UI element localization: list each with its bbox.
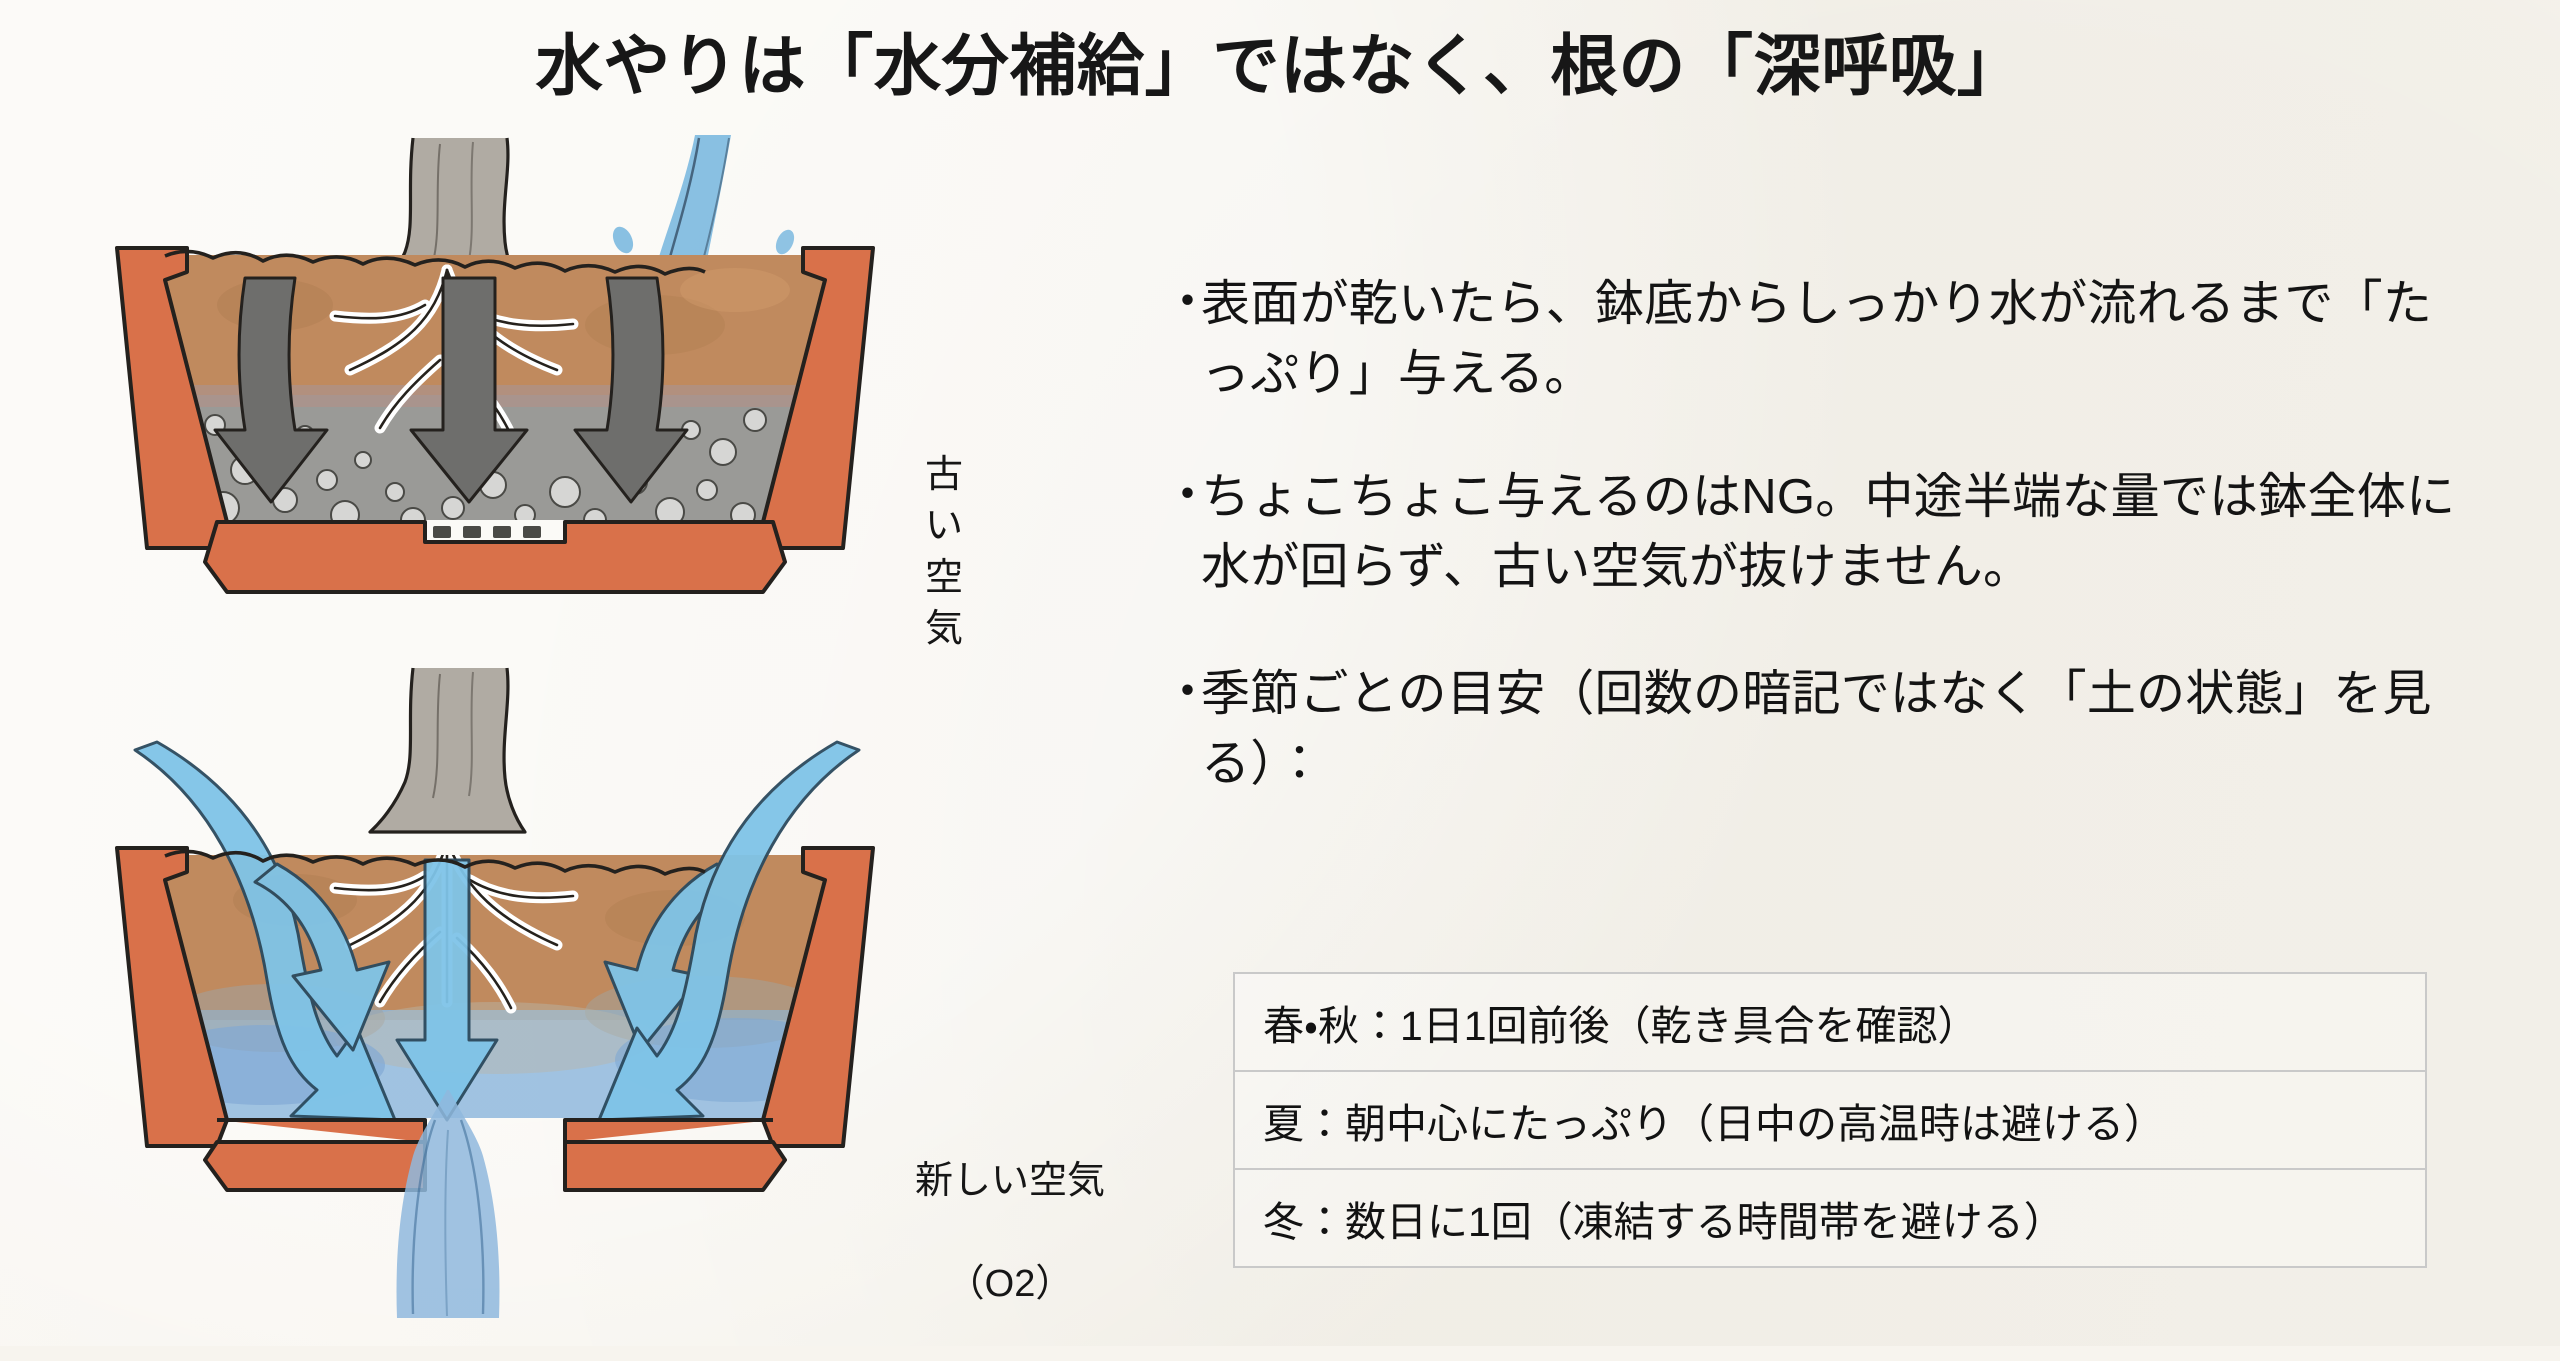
figure-label-new-air: 新しい空気 （O2）	[885, 1105, 1135, 1361]
bullet-marker-2: ・	[1163, 461, 1212, 531]
bullet-text-3: 季節ごとの目安（回数の暗記ではなく「土の状態」を見る）：	[1201, 667, 2432, 791]
bullet-marker-3: ・	[1163, 658, 1212, 728]
bullet-item-2: ・ ちょこちょこ与えるのはNG。中途半端な量では鉢全体に水が回らず、古い空気が抜…	[1163, 463, 2463, 602]
illustration-column: 古い空気	[95, 130, 1105, 1320]
old-air-diagram-svg	[95, 130, 895, 620]
table-row-summer: 夏：朝中心にたっぷり（日中の高温時は避ける）	[1235, 1072, 2425, 1170]
tree-trunk-icon	[370, 668, 525, 832]
figure-old-air: 古い空気	[95, 130, 895, 620]
table-cell-summer: 夏：朝中心にたっぷり（日中の高温時は避ける）	[1263, 1090, 2165, 1150]
bullet-marker-1: ・	[1163, 268, 1212, 338]
bullet-text-1: 表面が乾いたら、鉢底からしっかり水が流れるまで「たっぷり」与える。	[1201, 277, 2432, 401]
bullet-item-3: ・ 季節ごとの目安（回数の暗記ではなく「土の状態」を見る）：	[1163, 660, 2463, 799]
figure-new-air: 新しい空気 （O2）	[95, 650, 895, 1320]
table-cell-winter: 冬：数日に1回（凍結する時間帯を避ける）	[1263, 1188, 2065, 1248]
drainage-hole-icon	[433, 526, 541, 538]
slide-canvas: 水やりは「水分補給」ではなく、根の「深呼吸」	[0, 0, 2560, 1346]
table-row-winter: 冬：数日に1回（凍結する時間帯を避ける）	[1235, 1170, 2425, 1268]
old-air-arrows	[215, 278, 687, 502]
figure-label-old-air: 古い空気	[925, 450, 963, 655]
soil-body	[145, 250, 845, 532]
bullet-item-1: ・ 表面が乾いたら、鉢底からしっかり水が流れるまで「たっぷり」与える。	[1163, 270, 2463, 409]
figure-label-new-air-line1: 新しい空気	[885, 1156, 1135, 1207]
table-row-spring-autumn: 春・秋：1日1回前後（乾き具合を確認）	[1235, 974, 2425, 1072]
bullet-list: ・ 表面が乾いたら、鉢底からしっかり水が流れるまで「たっぷり」与える。 ・ ちょ…	[1163, 270, 2463, 829]
figure-label-new-air-line2: （O2）	[885, 1259, 1135, 1310]
table-cell-spring-autumn: 春・秋：1日1回前後（乾き具合を確認）	[1263, 992, 1979, 1052]
bullet-text-2: ちょこちょこ与えるのはNG。中途半端な量では鉢全体に水が回らず、古い空気が抜けま…	[1201, 470, 2455, 594]
page-title: 水やりは「水分補給」ではなく、根の「深呼吸」	[0, 28, 2560, 107]
new-air-diagram-svg	[95, 650, 895, 1320]
season-guideline-table: 春・秋：1日1回前後（乾き具合を確認） 夏：朝中心にたっぷり（日中の高温時は避け…	[1233, 972, 2427, 1268]
